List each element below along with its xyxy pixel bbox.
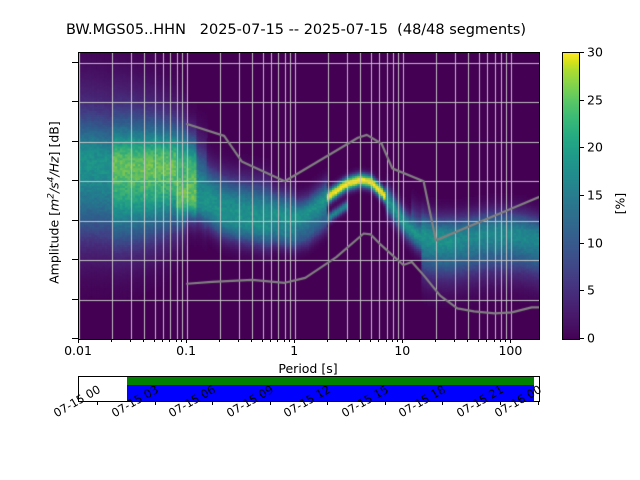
timeline-tick-mark: [442, 401, 443, 405]
x-tick-minor-mark: [143, 339, 144, 342]
x-tick-minor-mark: [397, 339, 398, 342]
x-tick-minor-mark: [467, 339, 468, 342]
colorbar-tick-label: 0: [587, 331, 595, 346]
timeline-tick-mark: [212, 401, 213, 405]
x-tick-minor-mark: [500, 339, 501, 342]
x-tick-label: 1: [290, 343, 298, 358]
x-tick-minor-mark: [435, 339, 436, 342]
ppsd-heatmap-canvas: [79, 53, 539, 339]
x-tick-minor-mark: [505, 339, 506, 342]
x-tick-minor-mark: [392, 339, 393, 342]
x-tick-minor-mark: [169, 339, 170, 342]
timeline-tick-mark: [155, 401, 156, 405]
timeline-green-bar: [127, 377, 534, 385]
colorbar-tick-mark: [579, 100, 584, 101]
x-tick-minor-mark: [370, 339, 371, 342]
x-tick-minor-mark: [346, 339, 347, 342]
x-tick-minor-mark: [454, 339, 455, 342]
x-tick-minor-mark: [162, 339, 163, 342]
y-tick-mark: [72, 62, 78, 63]
colorbar-tick-label: 20: [587, 140, 603, 155]
colorbar: [562, 52, 580, 340]
page-title: BW.MGS05..HHN 2025-07-15 -- 2025-07-15 (…: [0, 22, 592, 38]
x-tick-minor-mark: [277, 339, 278, 342]
colorbar-tick-label: 10: [587, 235, 603, 250]
timeline-tick-mark: [97, 401, 98, 405]
x-tick-minor-mark: [181, 339, 182, 342]
x-tick-mark: [186, 339, 187, 343]
timeline-tick-mark: [270, 401, 271, 405]
colorbar-tick-mark: [579, 243, 584, 244]
timeline-tick-mark: [327, 401, 328, 405]
x-tick-mark: [510, 339, 511, 343]
x-tick-label: 0.1: [176, 343, 196, 358]
x-tick-minor-mark: [486, 339, 487, 342]
colorbar-tick-mark: [579, 147, 584, 148]
colorbar-tick-label: 30: [587, 45, 603, 60]
x-tick-minor-mark: [262, 339, 263, 342]
x-tick-mark: [294, 339, 295, 343]
x-tick-minor-mark: [270, 339, 271, 342]
y-tick-mark: [72, 299, 78, 300]
colorbar-tick-mark: [579, 52, 584, 53]
x-tick-minor-mark: [289, 339, 290, 342]
colorbar-tick-mark: [579, 338, 584, 339]
x-tick-mark: [402, 339, 403, 343]
ppsd-figure: BW.MGS05..HHN 2025-07-15 -- 2025-07-15 (…: [0, 0, 640, 480]
x-tick-minor-mark: [478, 339, 479, 342]
x-tick-mark: [78, 339, 79, 343]
x-tick-label: 0.01: [64, 343, 92, 358]
y-tick-mark: [72, 220, 78, 221]
colorbar-tick-label: 25: [587, 92, 603, 107]
x-tick-minor-mark: [154, 339, 155, 342]
timeline-tick-mark: [385, 401, 386, 405]
x-tick-minor-mark: [176, 339, 177, 342]
colorbar-label: [%]: [613, 144, 628, 264]
x-axis-label: Period [s]: [78, 361, 538, 376]
x-tick-minor-mark: [494, 339, 495, 342]
x-tick-minor-mark: [130, 339, 131, 342]
x-tick-minor-mark: [284, 339, 285, 342]
x-tick-minor-mark: [238, 339, 239, 342]
colorbar-tick-label: 15: [587, 188, 603, 203]
x-tick-minor-mark: [251, 339, 252, 342]
x-tick-minor-mark: [378, 339, 379, 342]
y-tick-mark: [72, 259, 78, 260]
ppsd-axes: [78, 52, 540, 340]
x-tick-label: 100: [498, 343, 522, 358]
y-axis-label: Amplitude [m2/s4/Hz] [dB]: [46, 53, 61, 353]
x-tick-minor-mark: [111, 339, 112, 342]
y-tick-mark: [72, 141, 78, 142]
y-tick-mark: [72, 180, 78, 181]
colorbar-tick-label: 5: [587, 283, 595, 298]
x-tick-minor-mark: [386, 339, 387, 342]
x-tick-minor-mark: [219, 339, 220, 342]
y-tick-mark: [72, 101, 78, 102]
x-tick-minor-mark: [327, 339, 328, 342]
colorbar-tick-mark: [579, 290, 584, 291]
x-tick-minor-mark: [359, 339, 360, 342]
timeline-tick-mark: [538, 401, 539, 405]
colorbar-tick-mark: [579, 195, 584, 196]
x-tick-label: 10: [394, 343, 410, 358]
